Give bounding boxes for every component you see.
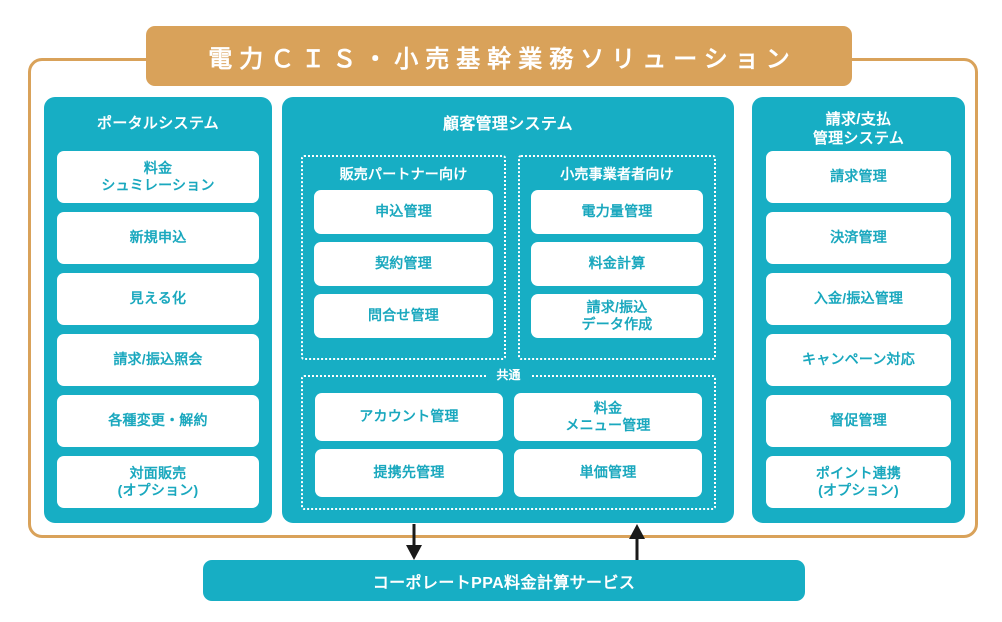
panel-title-billing: 請求/支払管理システム (752, 97, 965, 148)
group-common: 共通 アカウント管理 料金メニュー管理 提携先管理 単価管理 (301, 375, 716, 510)
card-partner-2[interactable]: 問合せ管理 (314, 294, 493, 338)
retail-card-list: 電力量管理 料金計算 請求/振込データ作成 (531, 190, 703, 338)
card-billing-0[interactable]: 請求管理 (766, 151, 951, 203)
card-billing-4[interactable]: 督促管理 (766, 395, 951, 447)
diagram-title-badge: 電力ＣＩＳ・小売基幹業務ソリューション (146, 26, 852, 86)
card-billing-1[interactable]: 決済管理 (766, 212, 951, 264)
card-portal-4[interactable]: 各種変更・解約 (57, 395, 259, 447)
portal-card-list: 料金シュミレーション 新規申込 見える化 請求/振込照会 各種変更・解約 対面販… (57, 151, 259, 508)
card-common-3[interactable]: 単価管理 (514, 449, 702, 497)
group-title-common: 共通 (487, 366, 529, 383)
group-title-retail: 小売事業者者向け (520, 157, 714, 184)
card-billing-2[interactable]: 入金/振込管理 (766, 273, 951, 325)
card-retail-0[interactable]: 電力量管理 (531, 190, 703, 234)
panel-title-customer: 顧客管理システム (282, 97, 734, 135)
card-retail-2[interactable]: 請求/振込データ作成 (531, 294, 703, 338)
card-common-1[interactable]: 料金メニュー管理 (514, 393, 702, 441)
common-card-grid: アカウント管理 料金メニュー管理 提携先管理 単価管理 (315, 393, 702, 497)
panel-billing-payment-system: 請求/支払管理システム 請求管理 決済管理 入金/振込管理 キャンペーン対応 督… (752, 97, 965, 523)
page-title: 電力ＣＩＳ・小売基幹業務ソリューション (201, 39, 797, 74)
billing-card-list: 請求管理 決済管理 入金/振込管理 キャンペーン対応 督促管理 ポイント連携(オ… (766, 151, 951, 508)
card-partner-1[interactable]: 契約管理 (314, 242, 493, 286)
group-title-partner: 販売パートナー向け (303, 157, 504, 184)
bottom-service-label: コーポレートPPA料金計算サービス (373, 569, 636, 593)
card-portal-0[interactable]: 料金シュミレーション (57, 151, 259, 203)
card-portal-2[interactable]: 見える化 (57, 273, 259, 325)
card-billing-3[interactable]: キャンペーン対応 (766, 334, 951, 386)
card-portal-5[interactable]: 対面販売(オプション) (57, 456, 259, 508)
card-partner-0[interactable]: 申込管理 (314, 190, 493, 234)
panel-portal-system: ポータルシステム 料金シュミレーション 新規申込 見える化 請求/振込照会 各種… (44, 97, 272, 523)
partner-card-list: 申込管理 契約管理 問合せ管理 (314, 190, 493, 338)
group-retail-operator: 小売事業者者向け 電力量管理 料金計算 請求/振込データ作成 (518, 155, 716, 360)
group-sales-partner: 販売パートナー向け 申込管理 契約管理 問合せ管理 (301, 155, 506, 360)
solution-architecture-diagram: 電力ＣＩＳ・小売基幹業務ソリューション ポータルシステム 料金シュミレーション … (0, 0, 1002, 622)
bottom-service-bar[interactable]: コーポレートPPA料金計算サービス (203, 560, 805, 601)
card-common-0[interactable]: アカウント管理 (315, 393, 503, 441)
card-retail-1[interactable]: 料金計算 (531, 242, 703, 286)
card-billing-5[interactable]: ポイント連携(オプション) (766, 456, 951, 508)
card-portal-3[interactable]: 請求/振込照会 (57, 334, 259, 386)
panel-customer-management-system: 顧客管理システム 販売パートナー向け 申込管理 契約管理 問合せ管理 小売事業者… (282, 97, 734, 523)
card-common-2[interactable]: 提携先管理 (315, 449, 503, 497)
card-portal-1[interactable]: 新規申込 (57, 212, 259, 264)
panel-title-portal: ポータルシステム (44, 97, 272, 133)
